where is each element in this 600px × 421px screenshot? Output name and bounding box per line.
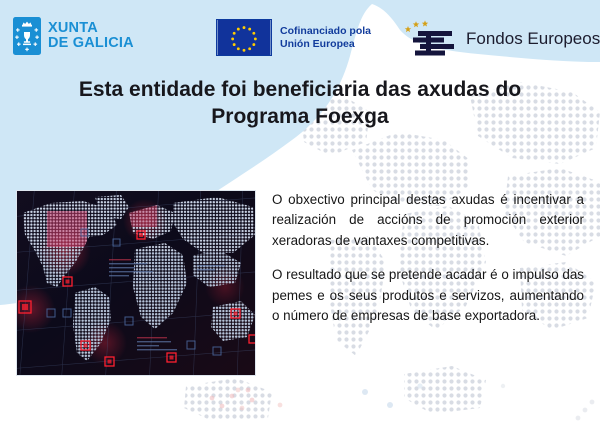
- xunta-logo-line1: XUNTA: [48, 21, 134, 36]
- galicia-coat-of-arms-icon: [13, 17, 41, 55]
- european-union-logo: Cofinanciado pola Unión Europea: [216, 19, 371, 56]
- paragraph-objective: O obxectivo principal destas axudas é in…: [272, 190, 584, 251]
- world-map-network-photo: [16, 190, 256, 376]
- xunta-de-galicia-logo: XUNTA DE GALICIA: [13, 17, 134, 55]
- page-title: Esta entidade foi beneficiaria das axuda…: [30, 76, 570, 131]
- european-union-flag-icon: [216, 19, 272, 56]
- poster-root: XUNTA DE GALICIA: [0, 0, 600, 421]
- xunta-logo-line2: DE GALICIA: [48, 36, 134, 51]
- eu-logo-line1: Cofinanciado pola: [280, 25, 371, 37]
- paragraph-result: O resultado que se pretende acadar é o i…: [272, 265, 584, 326]
- logo-bar: XUNTA DE GALICIA: [0, 0, 600, 74]
- fondos-europeos-logo: Fondos Europeos: [404, 18, 600, 60]
- eu-logo-line2: Unión Europea: [280, 38, 371, 50]
- body-copy: O obxectivo principal destas axudas é in…: [272, 190, 584, 326]
- fondos-europeos-stripes-icon: [404, 18, 460, 60]
- fondos-europeos-label: Fondos Europeos: [466, 29, 600, 49]
